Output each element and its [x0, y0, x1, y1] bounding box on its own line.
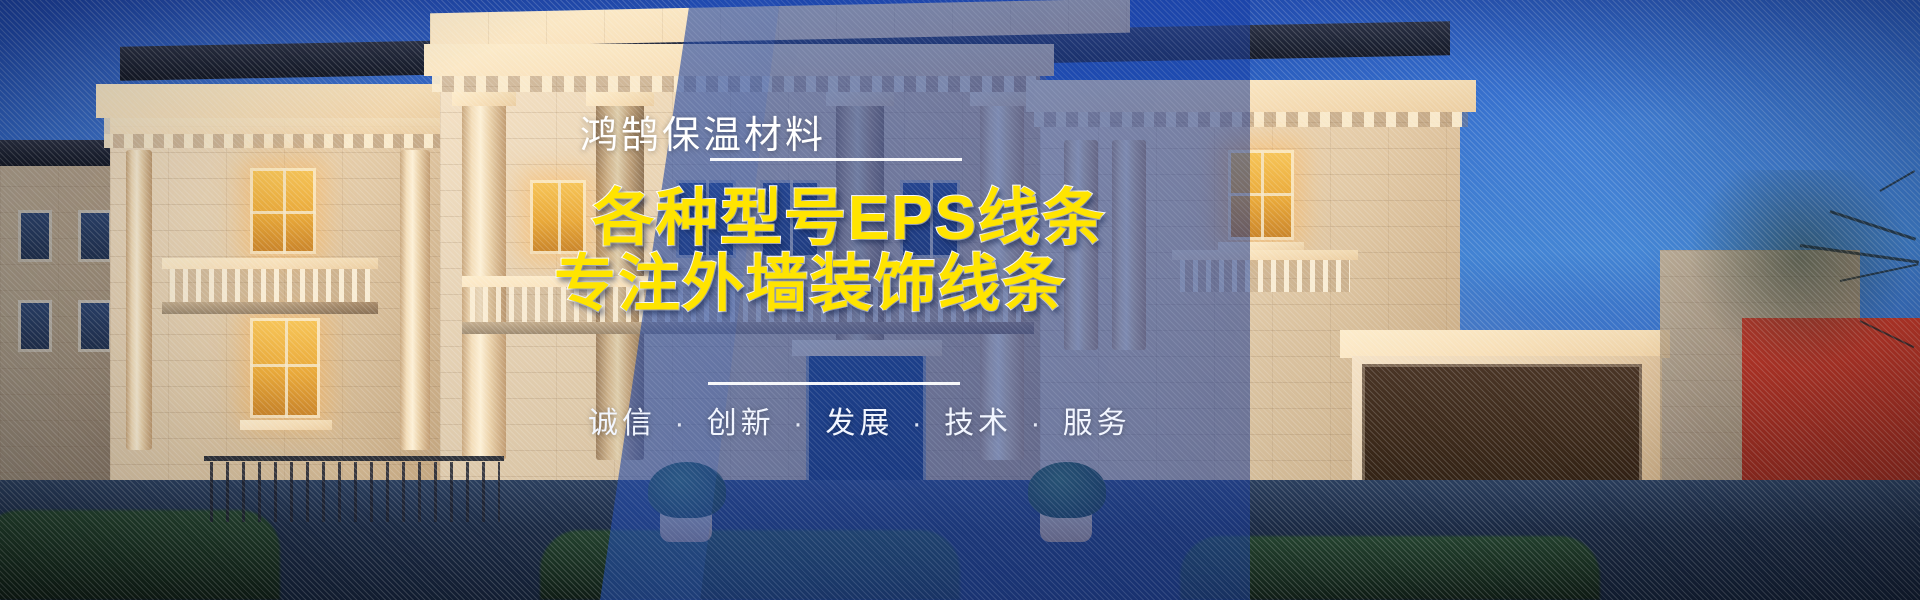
left-bg-window-3	[18, 300, 52, 352]
tagline-separator-4: ·	[1030, 407, 1044, 440]
villa-left-window-upper	[250, 168, 316, 254]
hedge-left	[0, 510, 280, 600]
brand-name: 鸿鹄保温材料	[580, 104, 826, 159]
iron-railing-left	[210, 462, 500, 522]
villa-left-wing-cornice-2	[104, 118, 448, 134]
villa-left-dentils	[104, 134, 448, 148]
tagline-item-1: 诚信	[588, 407, 656, 440]
villa-left-window-sill	[240, 420, 332, 430]
villa-left-balustrade	[170, 268, 370, 302]
villa-left-wing-cornice	[96, 84, 456, 118]
tagline-separator-2: ·	[793, 407, 807, 440]
headline-block: 各种型号EPS线条 专注外墙装饰线条	[550, 186, 1106, 318]
tagline-item-4: 技术	[944, 407, 1012, 440]
villa-left-balustrade-base	[162, 302, 378, 314]
left-bg-window-4	[78, 300, 112, 352]
headline-line-2: 专注外墙装饰线条	[554, 252, 1106, 318]
tagline-separator-1: ·	[674, 407, 688, 440]
villa-left-pilaster-2	[400, 150, 430, 450]
villa-garage-lintel	[1340, 330, 1670, 358]
tree-branches	[1680, 170, 1920, 390]
tagline-separator-3: ·	[912, 407, 926, 440]
headline-line-1: 各种型号EPS线条	[592, 186, 1106, 252]
promo-banner: 鸿鹄保温材料 各种型号EPS线条 专注外墙装饰线条 诚信 · 创新 · 发展 ·…	[0, 0, 1920, 600]
villa-column-capital-1	[452, 92, 516, 106]
tagline: 诚信 · 创新 · 发展 · 技术 · 服务	[588, 398, 1131, 442]
villa-left-pilaster-1	[126, 150, 152, 450]
tagline-item-2: 创新	[707, 407, 775, 440]
tagline-item-3: 发展	[825, 407, 893, 440]
left-bg-window-2	[78, 210, 112, 262]
iron-railing-left-cap	[204, 456, 504, 461]
villa-left-window-lower	[250, 318, 320, 418]
tagline-item-5: 服务	[1063, 407, 1131, 440]
villa-left-balustrade-cap	[162, 258, 378, 269]
left-bg-window-1	[18, 210, 52, 262]
